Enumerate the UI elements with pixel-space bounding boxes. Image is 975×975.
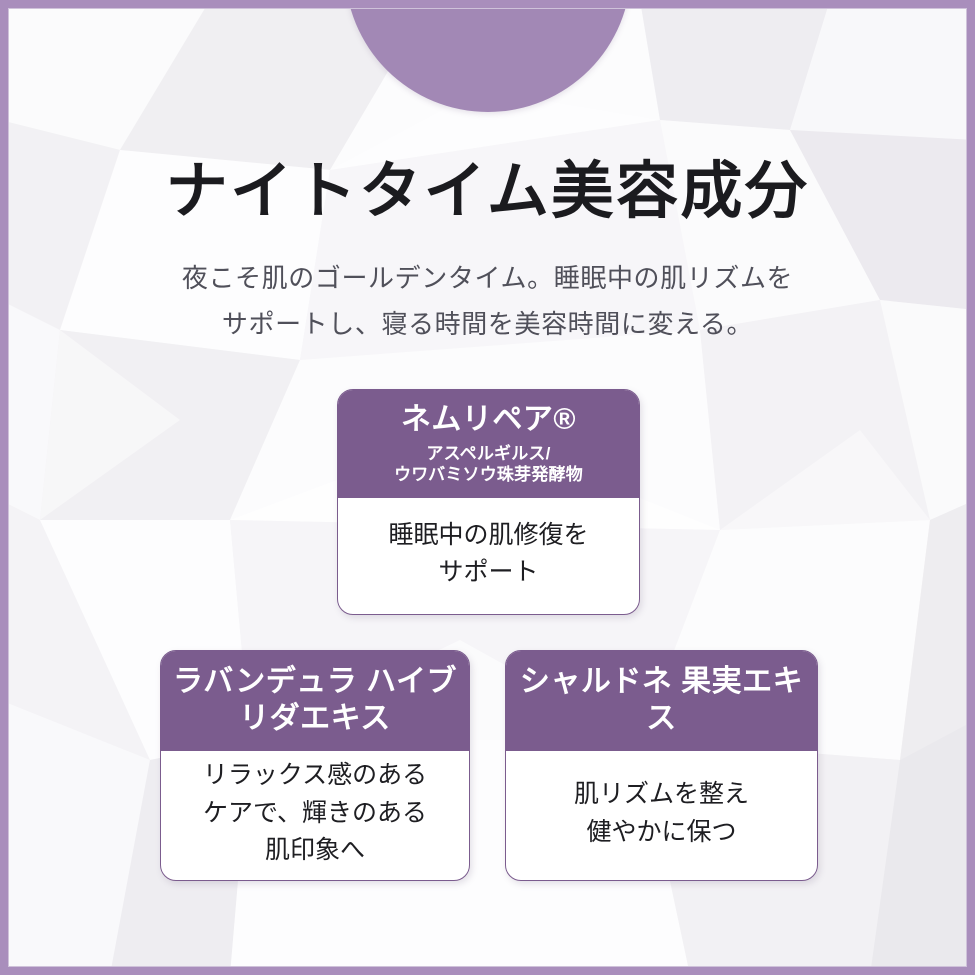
card-title-line-1: ラバンデュラ (173, 665, 357, 698)
card-body-line-2: ケアで、輝きのある (203, 795, 427, 833)
card-body-lavandula: リラックス感のある ケアで、輝きのある 肌印象へ (161, 751, 469, 880)
card-body-chardonnay: 肌リズムを整え 健やかに保つ (506, 751, 817, 880)
subtitle-text: 夜こそ肌のゴールデンタイム。睡眠中の肌リズムを サポートし、寝る時間を美容時間に… (0, 256, 975, 347)
card-subtitle-nemuripair: アスペルギルス/ ウワバミソウ珠芽発酵物 (346, 443, 631, 486)
card-header-lavandula: ラバンデュラ ハイブリダエキス (161, 651, 469, 751)
card-body-line-1: リラックス感のある (203, 757, 427, 795)
point-badge-label: Point 1 (425, 0, 551, 112)
card-title-nemuripair: ネムリペア® (346, 402, 631, 439)
card-body-line-1: 睡眠中の肌修復を (388, 517, 588, 555)
card-header-nemuripair: ネムリペア® アスペルギルス/ ウワバミソウ珠芽発酵物 (338, 390, 639, 498)
card-header-chardonnay: シャルドネ 果実エキス (506, 651, 817, 751)
ingredient-card-chardonnay[interactable]: シャルドネ 果実エキス 肌リズムを整え 健やかに保つ (505, 650, 818, 881)
subtitle-line-2: サポートし、寝る時間を美容時間に変える。 (0, 302, 975, 348)
ingredient-card-nemuripair[interactable]: ネムリペア® アスペルギルス/ ウワバミソウ珠芽発酵物 睡眠中の肌修復を サポー… (337, 389, 640, 615)
card-subtitle-line-1: アスペルギルス/ (346, 443, 631, 464)
slide-canvas: Point 1 ナイトタイム美容成分 夜こそ肌のゴールデンタイム。睡眠中の肌リズ… (0, 0, 975, 975)
card-title-line-1: シャルドネ (520, 665, 673, 698)
card-title-chardonnay: シャルドネ 果実エキス (512, 664, 811, 737)
card-body-line-2: 健やかに保つ (574, 814, 749, 852)
card-body-line-3: 肌印象へ (203, 832, 427, 870)
card-body-line-1: 肌リズムを整え (574, 776, 749, 814)
card-body-line-2: サポート (388, 554, 588, 592)
card-title-lavandula: ラバンデュラ ハイブリダエキス (167, 664, 463, 737)
subtitle-line-1: 夜こそ肌のゴールデンタイム。睡眠中の肌リズムを (0, 256, 975, 302)
ingredient-card-lavandula[interactable]: ラバンデュラ ハイブリダエキス リラックス感のある ケアで、輝きのある 肌印象へ (160, 650, 470, 881)
card-subtitle-line-2: ウワバミソウ珠芽発酵物 (346, 464, 631, 485)
card-body-nemuripair: 睡眠中の肌修復を サポート (338, 498, 639, 614)
page-title: ナイトタイム美容成分 (0, 158, 975, 226)
